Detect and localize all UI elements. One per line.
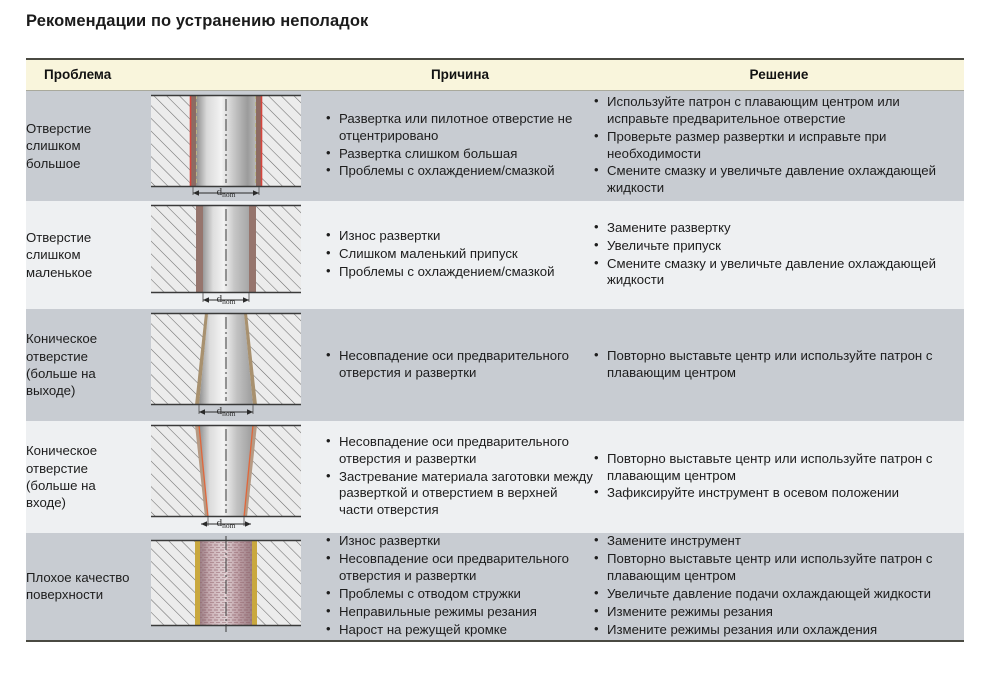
cell-cause: Износ развертки Слишком маленький припус… bbox=[326, 201, 594, 309]
hole-rough-surface-diagram bbox=[136, 534, 326, 638]
list-item: Слишком маленький припуск bbox=[326, 246, 594, 263]
list-item: Используйте патрон с плавающим центром и… bbox=[594, 94, 964, 128]
table-row: Коническое отверстие (больше на выходе) bbox=[26, 309, 964, 421]
solution-list: Повторно выставьте центр или используйте… bbox=[594, 451, 964, 503]
solution-list: Замените инструмент Повторно выставьте ц… bbox=[594, 533, 964, 639]
cause-list: Несовпадение оси предварительного отверс… bbox=[326, 348, 594, 382]
list-item: Замените развертку bbox=[594, 220, 964, 237]
column-header-problem: Проблема bbox=[26, 59, 326, 91]
cell-problem: Отверстие слишком маленькое bbox=[26, 201, 136, 309]
cell-problem: Отверстие слишком большое bbox=[26, 91, 136, 202]
cell-cause: Развертка или пилотное отверстие не отце… bbox=[326, 91, 594, 202]
table-header-row: Проблема Причина Решение bbox=[26, 59, 964, 91]
solution-list: Замените развертку Увеличьте припуск Сме… bbox=[594, 220, 964, 290]
list-item: Несовпадение оси предварительного отверс… bbox=[326, 434, 594, 468]
hole-taper-exit-diagram: dnom bbox=[136, 309, 326, 421]
troubleshooting-page: Рекомендации по устранению неполадок Про… bbox=[0, 0, 990, 697]
cell-cause: Несовпадение оси предварительного отверс… bbox=[326, 421, 594, 533]
cell-solution: Повторно выставьте центр или используйте… bbox=[594, 309, 964, 421]
list-item: Несовпадение оси предварительного отверс… bbox=[326, 551, 594, 585]
cell-solution: Повторно выставьте центр или используйте… bbox=[594, 421, 964, 533]
column-header-solution: Решение bbox=[594, 59, 964, 91]
cause-list: Развертка или пилотное отверстие не отце… bbox=[326, 111, 594, 181]
list-item: Проблемы с охлаждением/смазкой bbox=[326, 264, 594, 281]
list-item: Развертка слишком большая bbox=[326, 146, 594, 163]
list-item: Проблемы с отводом стружки bbox=[326, 586, 594, 603]
table-body: Отверстие слишком большое bbox=[26, 91, 964, 641]
list-item: Повторно выставьте центр или используйте… bbox=[594, 451, 964, 485]
list-item: Застревание материала заготовки между ра… bbox=[326, 469, 594, 520]
cell-cause: Износ развертки Несовпадение оси предвар… bbox=[326, 533, 594, 641]
list-item: Несовпадение оси предварительного отверс… bbox=[326, 348, 594, 382]
dimension-label: dnom bbox=[217, 186, 236, 199]
list-item: Замените инструмент bbox=[594, 533, 964, 550]
list-item: Измените режимы резания bbox=[594, 604, 964, 621]
cell-problem: Коническое отверстие (больше на входе) bbox=[26, 421, 136, 533]
hole-oversize-diagram: dnom bbox=[136, 91, 326, 201]
list-item: Увеличьте припуск bbox=[594, 238, 964, 255]
table-row: Плохое качество поверхности bbox=[26, 533, 964, 641]
list-item: Проверьте размер развертки и исправьте п… bbox=[594, 129, 964, 163]
hole-taper-entry-diagram: dnom bbox=[136, 421, 326, 533]
list-item: Неправильные режимы резания bbox=[326, 604, 594, 621]
cell-figure: dnom bbox=[136, 91, 326, 202]
cell-cause: Несовпадение оси предварительного отверс… bbox=[326, 309, 594, 421]
cell-figure: dnom bbox=[136, 201, 326, 309]
dimension-label: dnom bbox=[217, 405, 236, 418]
list-item: Повторно выставьте центр или используйте… bbox=[594, 551, 964, 585]
table-row: Коническое отверстие (больше на входе) bbox=[26, 421, 964, 533]
page-title: Рекомендации по устранению неполадок bbox=[26, 12, 368, 31]
list-item: Измените режимы резания или охлаждения bbox=[594, 622, 964, 639]
cell-problem: Плохое качество поверхности bbox=[26, 533, 136, 641]
cell-solution: Замените развертку Увеличьте припуск Сме… bbox=[594, 201, 964, 309]
list-item: Повторно выставьте центр или используйте… bbox=[594, 348, 964, 382]
list-item: Смените смазку и увеличьте давление охла… bbox=[594, 163, 964, 197]
dimension-label: dnom bbox=[217, 517, 236, 530]
cell-solution: Используйте патрон с плавающим центром и… bbox=[594, 91, 964, 202]
solution-list: Повторно выставьте центр или используйте… bbox=[594, 348, 964, 382]
cause-list: Износ развертки Несовпадение оси предвар… bbox=[326, 533, 594, 639]
cell-figure bbox=[136, 533, 326, 641]
list-item: Износ развертки bbox=[326, 228, 594, 245]
table-row: Отверстие слишком маленькое bbox=[26, 201, 964, 309]
list-item: Зафиксируйте инструмент в осевом положен… bbox=[594, 485, 964, 502]
list-item: Развертка или пилотное отверстие не отце… bbox=[326, 111, 594, 145]
table-row: Отверстие слишком большое bbox=[26, 91, 964, 202]
cell-problem: Коническое отверстие (больше на выходе) bbox=[26, 309, 136, 421]
cell-figure: dnom bbox=[136, 421, 326, 533]
cause-list: Несовпадение оси предварительного отверс… bbox=[326, 434, 594, 520]
cause-list: Износ развертки Слишком маленький припус… bbox=[326, 228, 594, 281]
list-item: Проблемы с охлаждением/смазкой bbox=[326, 163, 594, 180]
list-item: Смените смазку и увеличьте давление охла… bbox=[594, 256, 964, 290]
cell-solution: Замените инструмент Повторно выставьте ц… bbox=[594, 533, 964, 641]
list-item: Увеличьте давление подачи охлаждающей жи… bbox=[594, 586, 964, 603]
dimension-label: dnom bbox=[217, 293, 236, 306]
list-item: Нарост на режущей кромке bbox=[326, 622, 594, 639]
cell-figure: dnom bbox=[136, 309, 326, 421]
list-item: Износ развертки bbox=[326, 533, 594, 550]
hole-undersize-diagram: dnom bbox=[136, 201, 326, 309]
solution-list: Используйте патрон с плавающим центром и… bbox=[594, 94, 964, 198]
troubleshooting-table: Проблема Причина Решение Отверстие слишк… bbox=[26, 58, 964, 642]
column-header-cause: Причина bbox=[326, 59, 594, 91]
